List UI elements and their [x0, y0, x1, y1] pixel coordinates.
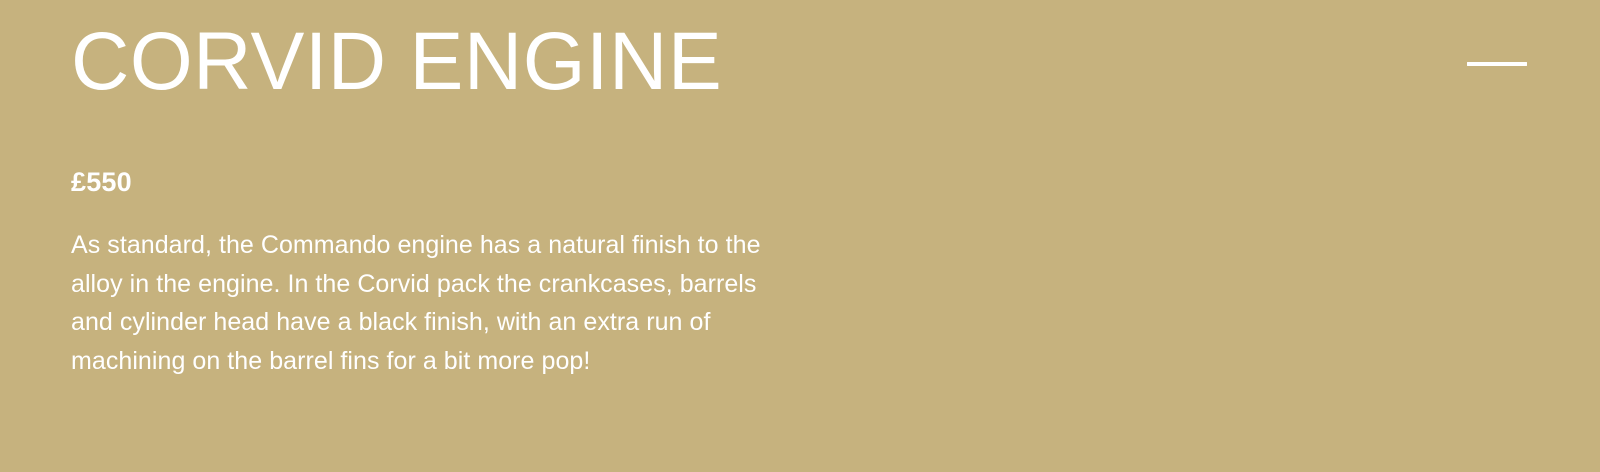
product-description: As standard, the Commando engine has a n…	[71, 204, 771, 380]
minus-icon	[1467, 62, 1527, 66]
panel-content: £550 As standard, the Commando engine ha…	[71, 160, 791, 380]
product-price: £550	[71, 160, 791, 204]
collapse-toggle-button[interactable]	[1455, 36, 1539, 92]
product-accordion-panel: CORVID ENGINE £550 As standard, the Comm…	[0, 0, 1600, 472]
page-title: CORVID ENGINE	[71, 14, 722, 110]
panel-header: CORVID ENGINE	[0, 0, 1600, 130]
